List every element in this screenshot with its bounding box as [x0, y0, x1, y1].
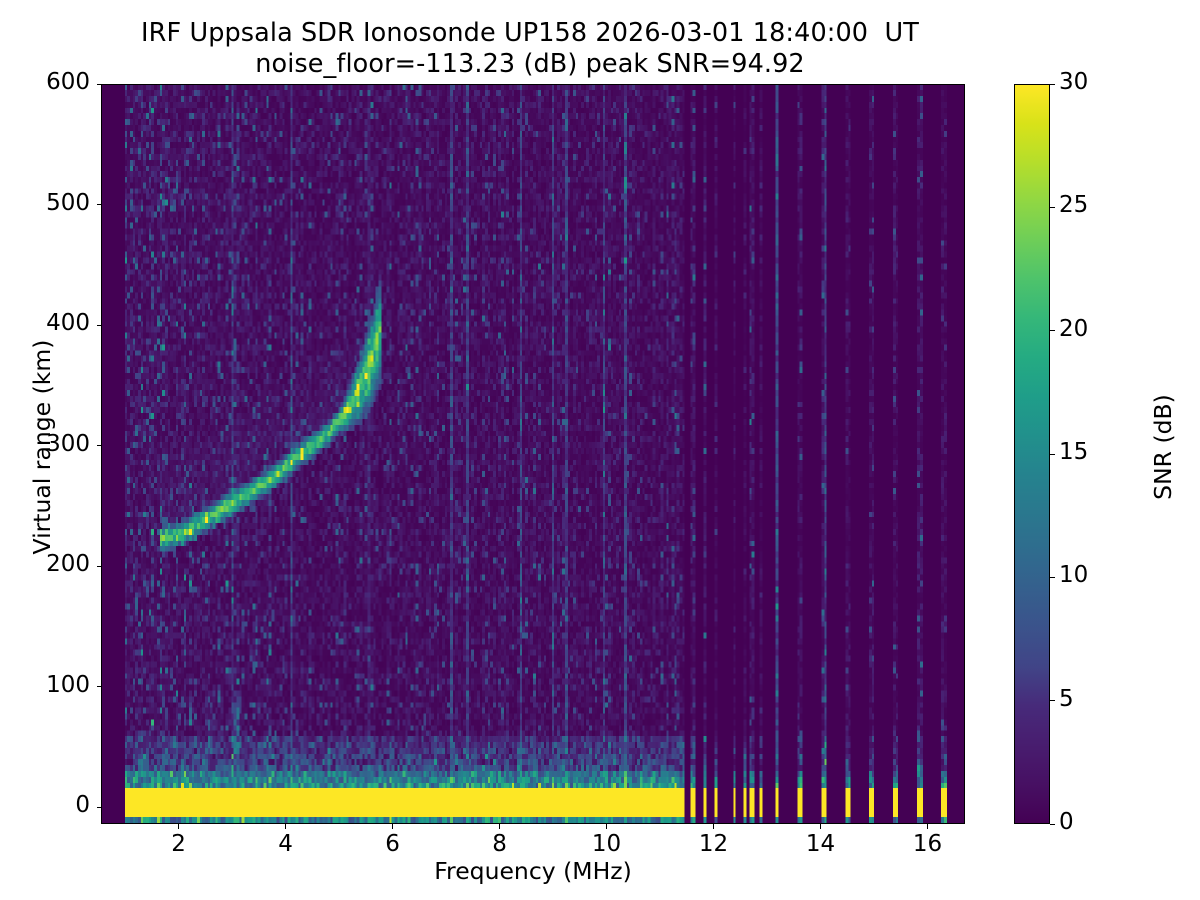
colorbar-label: SNR (dB)	[1149, 237, 1177, 657]
y-tick-label: 100	[0, 672, 90, 698]
x-tick-label: 16	[888, 831, 968, 857]
y-tick-label: 0	[0, 792, 90, 818]
colorbar-tick-label: 30	[1059, 69, 1139, 95]
x-tick-mark	[285, 824, 286, 829]
x-tick-mark	[178, 824, 179, 829]
colorbar-tick-label: 20	[1059, 316, 1139, 342]
colorbar-tick-mark	[1050, 330, 1055, 331]
x-tick-mark	[392, 824, 393, 829]
y-tick-mark	[97, 686, 102, 687]
y-tick-mark	[97, 325, 102, 326]
colorbar-gradient	[1015, 85, 1049, 823]
colorbar-tick-label: 15	[1059, 439, 1139, 465]
y-tick-label: 500	[0, 190, 90, 216]
colorbar-tick-label: 25	[1059, 192, 1139, 218]
x-tick-label: 10	[567, 831, 647, 857]
colorbar-tick-label: 0	[1059, 809, 1139, 835]
title-line-primary: IRF Uppsala SDR Ionosonde UP158 2026-03-…	[0, 18, 1060, 49]
colorbar-tick-mark	[1050, 84, 1055, 85]
y-tick-mark	[97, 204, 102, 205]
x-tick-label: 12	[674, 831, 754, 857]
y-tick-label: 600	[0, 69, 90, 95]
colorbar-tick-mark	[1050, 700, 1055, 701]
x-tick-mark	[927, 824, 928, 829]
ionogram-figure: IRF Uppsala SDR Ionosonde UP158 2026-03-…	[0, 0, 1200, 900]
x-tick-label: 4	[246, 831, 326, 857]
colorbar-tick-mark	[1050, 577, 1055, 578]
x-tick-label: 14	[781, 831, 861, 857]
x-tick-mark	[713, 824, 714, 829]
x-tick-mark	[606, 824, 607, 829]
y-tick-mark	[97, 445, 102, 446]
snr-colorbar	[1014, 84, 1050, 824]
x-tick-mark	[820, 824, 821, 829]
x-tick-label: 8	[460, 831, 540, 857]
colorbar-tick-label: 10	[1059, 562, 1139, 588]
x-tick-label: 6	[353, 831, 433, 857]
title-line-secondary: noise_floor=-113.23 (dB) peak SNR=94.92	[0, 49, 1060, 80]
figure-title: IRF Uppsala SDR Ionosonde UP158 2026-03-…	[0, 18, 1060, 80]
y-tick-mark	[97, 807, 102, 808]
ionogram-heatmap	[102, 85, 964, 823]
plot-axes	[101, 84, 965, 824]
x-tick-mark	[499, 824, 500, 829]
colorbar-tick-mark	[1050, 207, 1055, 208]
y-axis-label: Virtual range (km)	[28, 237, 56, 657]
y-tick-mark	[97, 84, 102, 85]
colorbar-tick-mark	[1050, 824, 1055, 825]
colorbar-tick-mark	[1050, 454, 1055, 455]
colorbar-tick-label: 5	[1059, 686, 1139, 712]
x-tick-label: 2	[139, 831, 219, 857]
y-tick-mark	[97, 566, 102, 567]
x-axis-label: Frequency (MHz)	[101, 857, 965, 885]
